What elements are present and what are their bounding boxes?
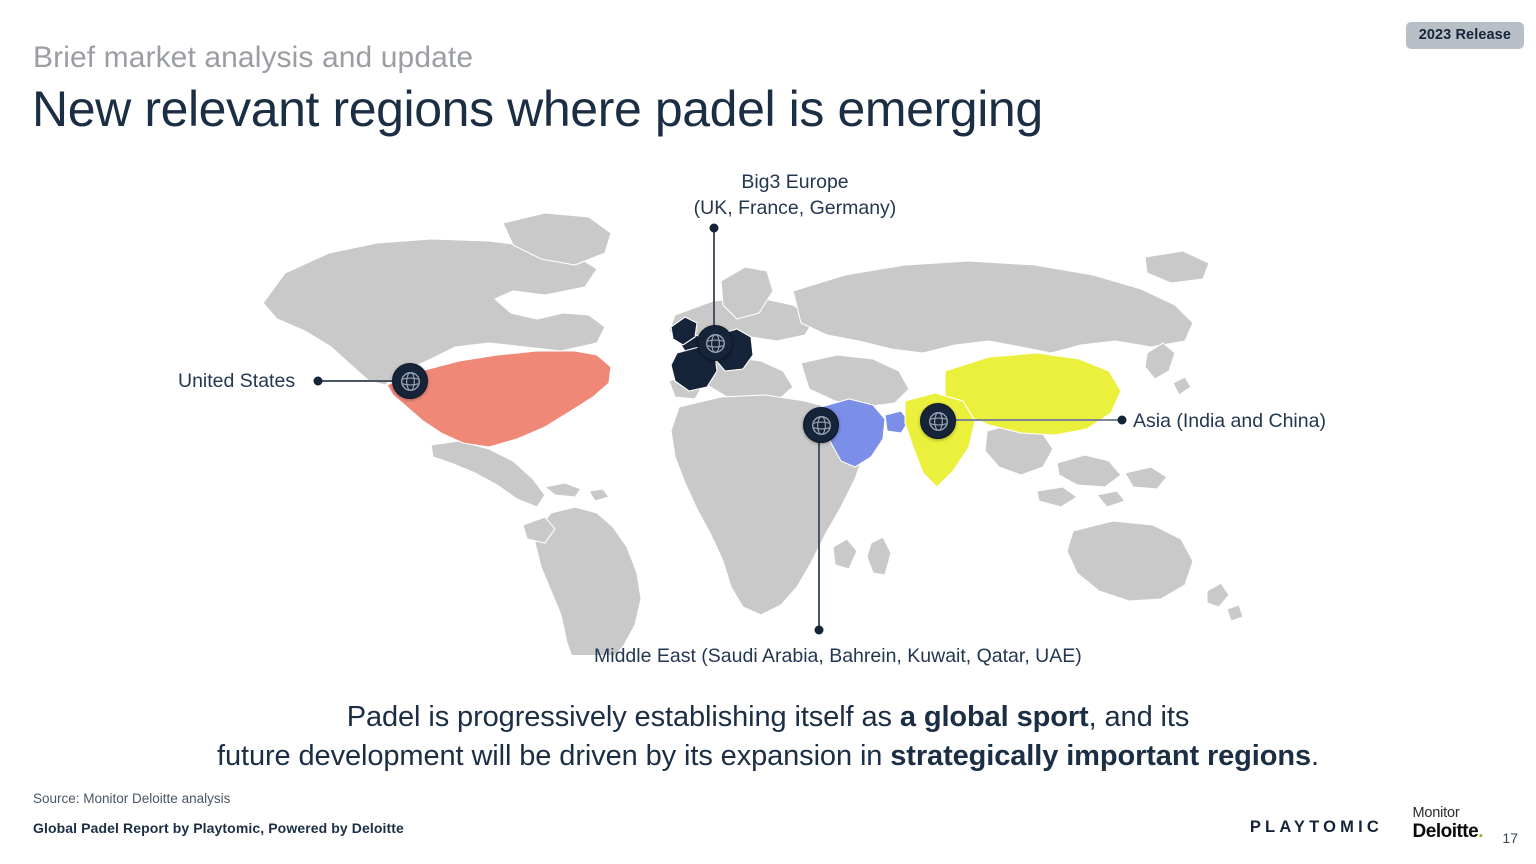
tagline-line-1: Padel is progressively establishing itse… [0,698,1536,737]
page-title: New relevant regions where padel is emer… [32,80,1043,138]
region-united-states [387,351,611,447]
deloitte-name: Deloitte [1413,821,1479,842]
status-badge: 2023 Release [1406,22,1524,49]
padel-globe-icon-asia [920,403,956,439]
page-number: 17 [1502,830,1518,846]
map-label-europe: Big3 Europe (UK, France, Germany) [689,170,901,221]
eyebrow-text: Brief market analysis and update [33,41,473,75]
tagline-line-2: future development will be driven by its… [0,737,1536,776]
padel-globe-glyph [811,415,832,436]
playtomic-logo: PLAYTOMIC [1250,818,1383,837]
source-note: Source: Monitor Deloitte analysis [33,791,230,806]
world-map-svg [245,195,1245,655]
tagline-1a: Padel is progressively establishing itse… [347,701,900,733]
padel-globe-icon-europe [697,325,733,361]
padel-globe-icon-middle-east [803,407,839,443]
map-label-europe-line2: (UK, France, Germany) [694,197,897,219]
map-label-middle-east: Middle East (Saudi Arabia, Bahrein, Kuwa… [594,644,1082,670]
tagline-2b: strategically important regions [890,740,1311,772]
tagline-2c: . [1311,740,1319,772]
padel-globe-icon-united-states [392,363,428,399]
monitor-deloitte-logo: Monitor Deloitte. [1413,806,1483,841]
padel-globe-glyph [928,411,949,432]
map-label-asia: Asia (India and China) [1133,409,1326,435]
deloitte-green-dot: . [1478,821,1483,842]
monitor-wordmark: Monitor [1413,806,1483,821]
padel-globe-glyph [705,333,726,354]
map-base-land [263,213,1243,655]
tagline-1b: a global sport [900,701,1089,733]
report-title: Global Padel Report by Playtomic, Powere… [33,820,404,836]
map-label-united-states: United States [178,369,295,395]
tagline: Padel is progressively establishing itse… [0,698,1536,775]
deloitte-wordmark: Deloitte. [1413,822,1483,841]
slide: 2023 Release Brief market analysis and u… [0,0,1536,864]
world-map [245,195,1245,655]
map-label-europe-line1: Big3 Europe [741,171,848,193]
tagline-1c: , and its [1089,701,1190,733]
padel-globe-glyph [400,371,421,392]
tagline-2a: future development will be driven by its… [217,740,890,772]
